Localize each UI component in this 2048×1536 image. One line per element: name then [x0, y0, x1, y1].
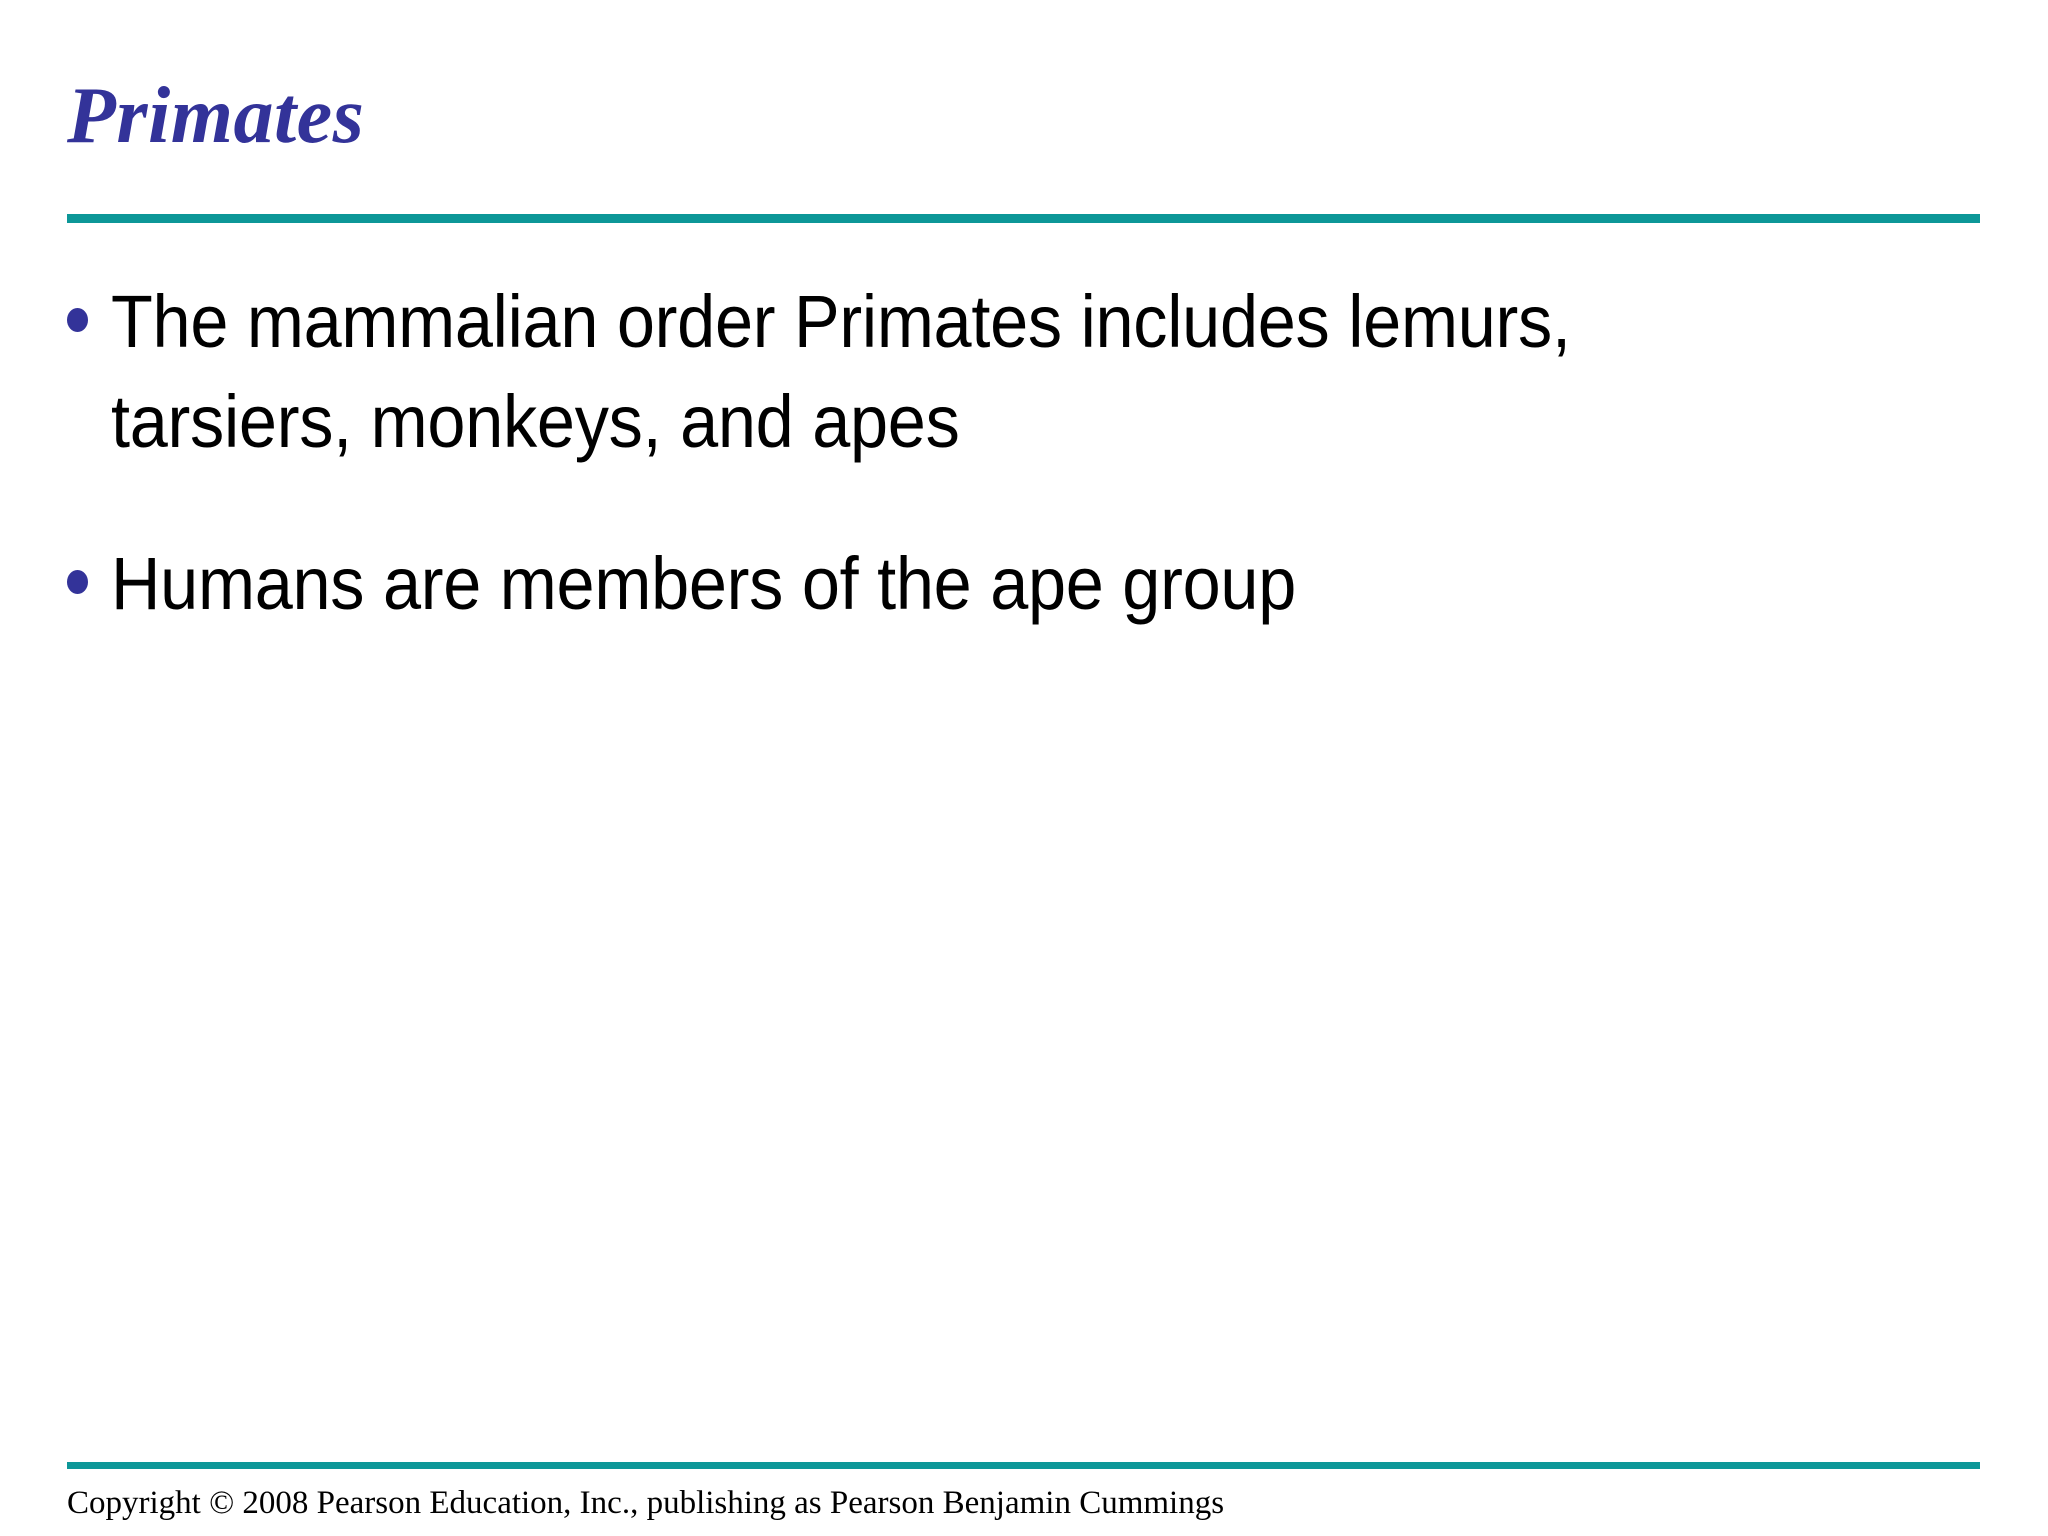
bullet-dot-icon [47, 272, 111, 332]
bullet-list: The mammalian order Primates includes le… [47, 272, 1787, 696]
bullet-dot-icon [47, 534, 111, 594]
list-item-label: Humans are members of the ape group [111, 534, 1661, 634]
footer-divider-rule [67, 1462, 1980, 1469]
list-item: Humans are members of the ape group [47, 534, 1787, 634]
title-divider-rule [67, 214, 1980, 223]
copyright-notice: Copyright © 2008 Pearson Education, Inc.… [67, 1482, 1224, 1524]
list-item: The mammalian order Primates includes le… [47, 272, 1787, 472]
page-title: Primates [67, 68, 1980, 164]
list-item-label: The mammalian order Primates includes le… [111, 272, 1661, 472]
slide-canvas: Primates The mammalian order Primates in… [0, 0, 2048, 1536]
